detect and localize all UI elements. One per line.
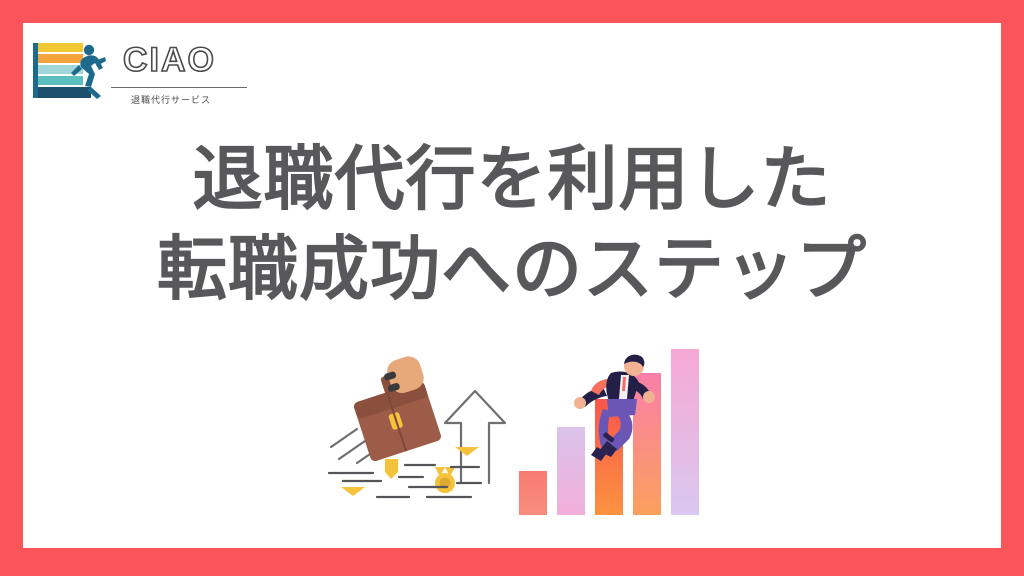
title-line-2: 転職成功へのステップ <box>23 225 1001 315</box>
running-person-with-bars-icon <box>33 41 111 103</box>
title-line-1: 退職代行を利用した <box>23 135 1001 225</box>
brand-wordmark: CIAO <box>123 43 216 77</box>
page-title: 退職代行を利用した 転職成功へのステップ <box>23 135 1001 314</box>
brand-tagline: 退職代行サービス <box>131 93 211 106</box>
illustration-band <box>23 341 1001 531</box>
businessman-climbing-bar-chart-illustration <box>513 345 713 525</box>
slide-card: CIAO 退職代行サービス 退職代行を利用した 転職成功へのステップ <box>23 23 1001 548</box>
briefcase-arrow-medal-illustration <box>323 355 523 515</box>
slide-canvas: CIAO 退職代行サービス 退職代行を利用した 転職成功へのステップ <box>0 0 1024 576</box>
brand-wordmark-group: CIAO 退職代行サービス <box>117 37 247 117</box>
brand-logo[interactable]: CIAO 退職代行サービス <box>33 37 248 119</box>
logo-divider <box>111 87 247 88</box>
